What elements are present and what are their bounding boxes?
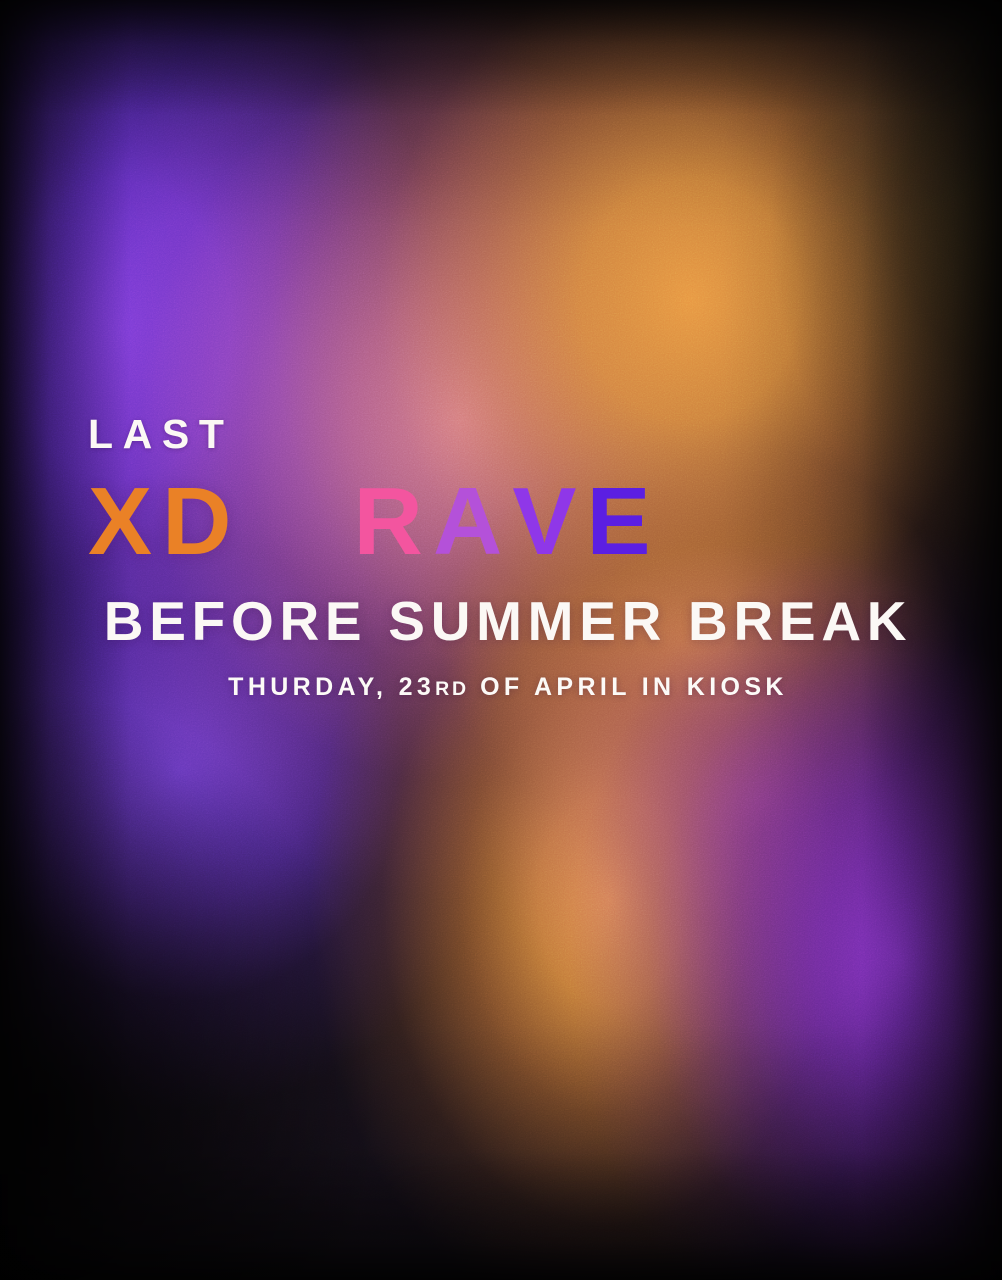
event-date-suffix: OF APRIL IN KIOSK [469,673,788,701]
title-letter-v: V [512,472,586,572]
title-letter-r: R [354,472,433,572]
title-letter-a: A [433,472,512,572]
subtitle-before-summer-break: BEFORE SUMMER BREAK [0,594,1002,649]
title-brand-xd: XD [88,472,242,572]
event-date-ordinal-suffix: RD [435,678,469,700]
event-date-prefix: THURDAY, 23 [228,673,435,701]
poster-canvas: LAST XDRAVE BEFORE SUMMER BREAK THURDAY,… [0,0,1002,1280]
title-line: XDRAVE [0,472,1002,572]
poster-headline-block: LAST XDRAVE BEFORE SUMMER BREAK THURDAY,… [0,414,1002,700]
event-date-line: THURDAY, 23RD OF APRIL IN KIOSK [0,675,1002,700]
kicker-last: LAST [0,414,1002,455]
title-letter-e: E [587,472,661,572]
title-word-rave: RAVE [354,472,661,572]
